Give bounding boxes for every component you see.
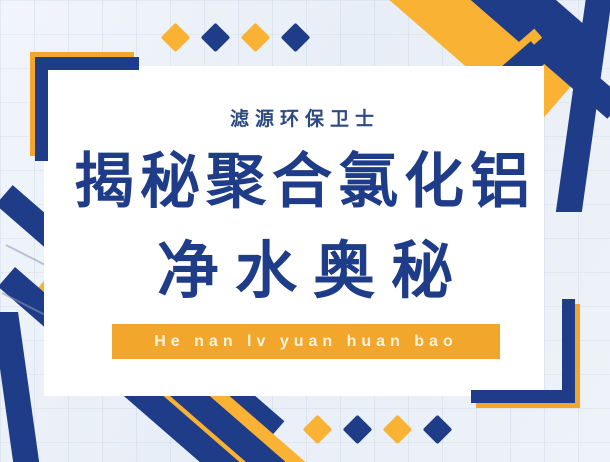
pinyin-banner-text: He nan lv yuan huan bao — [154, 333, 457, 351]
bracket-arm-blue-vertical — [562, 299, 575, 403]
poster-headline-line-1: 揭秘聚合氯化铝 — [0, 152, 610, 212]
bracket-arm-blue-horizontal — [471, 390, 575, 403]
poster-subtitle: 滤源环保卫士 — [0, 104, 610, 131]
bracket-arm-blue-horizontal — [35, 57, 139, 70]
poster-canvas: 滤源环保卫士 揭秘聚合氯化铝 净水奥秘 He nan lv yuan huan … — [0, 0, 610, 462]
pinyin-banner: He nan lv yuan huan bao — [112, 324, 500, 359]
poster-headline-line-2: 净水奥秘 — [0, 240, 610, 302]
